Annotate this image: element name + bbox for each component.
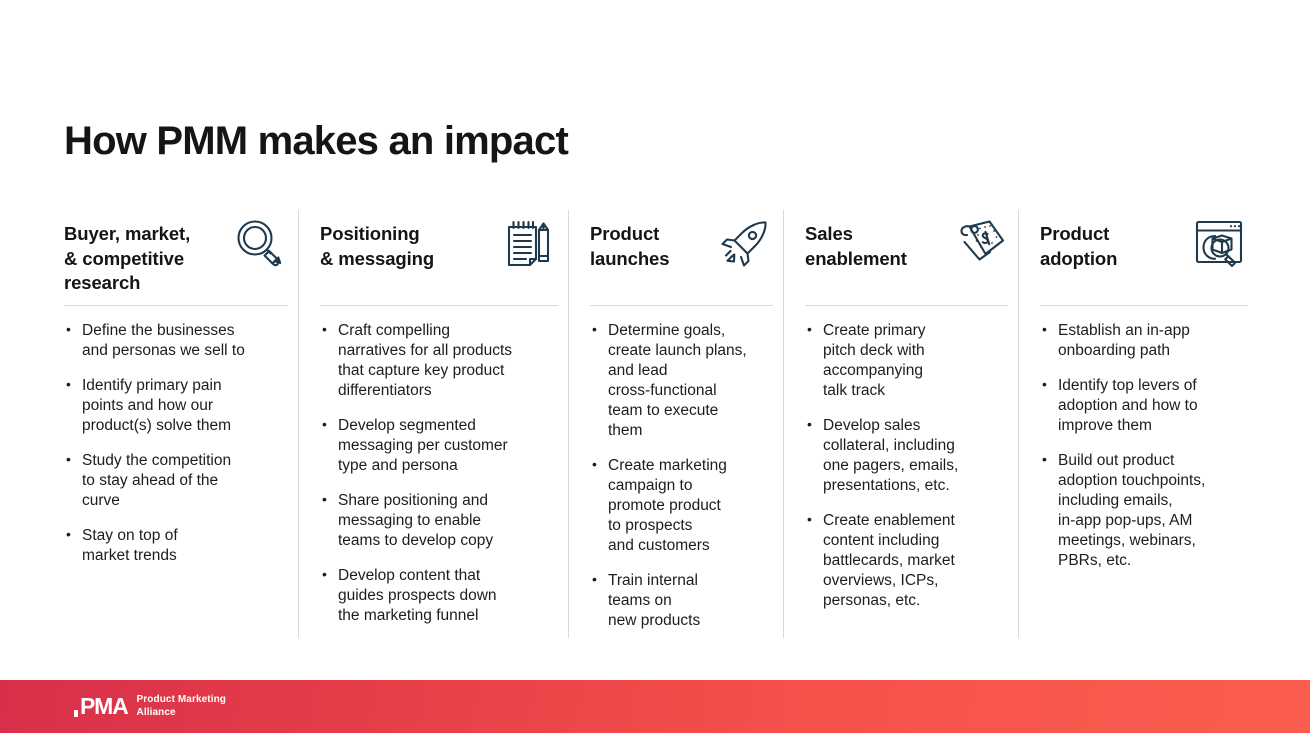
- magnifying-glass-icon: [232, 218, 288, 270]
- pma-logo: PMA Product Marketing Alliance: [74, 694, 226, 720]
- column-header: Product adoption: [1040, 210, 1248, 305]
- pmm-impact-matrix: Buyer, market, & competitive research: [64, 210, 1258, 638]
- list-item: Develop sales collateral, including one …: [805, 416, 1008, 496]
- price-tags-icon: [952, 218, 1008, 270]
- list-item: Identify primary pain points and how our…: [64, 376, 288, 436]
- footer-bar: PMA Product Marketing Alliance: [0, 680, 1310, 733]
- page-title: How PMM makes an impact: [64, 118, 568, 164]
- column-title: Positioning & messaging: [320, 210, 434, 271]
- notepad-pencil-icon: [502, 218, 558, 270]
- slide-canvas: How PMM makes an impact Buyer, market, &…: [0, 0, 1310, 733]
- column-title: Product launches: [590, 210, 669, 271]
- list-item: Identify top levers of adoption and how …: [1040, 376, 1248, 436]
- list-item: Develop content that guides prospects do…: [320, 566, 558, 626]
- rocket-icon: [717, 218, 773, 270]
- column-bullet-list: Create primary pitch deck with accompany…: [805, 306, 1008, 611]
- list-item: Determine goals, create launch plans, an…: [590, 321, 773, 441]
- column-header: Positioning & messaging: [320, 210, 558, 305]
- list-item: Create enablement content including batt…: [805, 511, 1008, 611]
- column-title: Buyer, market, & competitive research: [64, 210, 190, 296]
- pma-logo-mark: PMA: [74, 695, 128, 718]
- list-item: Define the businesses and personas we se…: [64, 321, 288, 361]
- column-title: Sales enablement: [805, 210, 907, 271]
- column-header: Sales enablement: [805, 210, 1008, 305]
- matrix-column-sales-enablement: Sales enablement: [783, 210, 1018, 638]
- list-item: Craft compelling narratives for all prod…: [320, 321, 558, 401]
- matrix-column-product-adoption: Product adoption: [1018, 210, 1258, 638]
- column-bullet-list: Establish an in-app onboarding path Iden…: [1040, 306, 1248, 571]
- column-header: Buyer, market, & competitive research: [64, 210, 288, 305]
- browser-product-search-icon: [1192, 218, 1248, 270]
- list-item: Create primary pitch deck with accompany…: [805, 321, 1008, 401]
- list-item: Share positioning and messaging to enabl…: [320, 491, 558, 551]
- matrix-column-positioning-messaging: Positioning & messaging: [298, 210, 568, 638]
- matrix-columns: Buyer, market, & competitive research: [64, 210, 1258, 638]
- column-bullet-list: Determine goals, create launch plans, an…: [590, 306, 773, 631]
- column-header: Product launches: [590, 210, 773, 305]
- list-item: Build out product adoption touchpoints, …: [1040, 451, 1248, 571]
- column-bullet-list: Craft compelling narratives for all prod…: [320, 306, 558, 626]
- column-title: Product adoption: [1040, 210, 1117, 271]
- pma-logo-wordmark: Product Marketing Alliance: [137, 694, 227, 720]
- list-item: Study the competition to stay ahead of t…: [64, 451, 288, 511]
- column-bullet-list: Define the businesses and personas we se…: [64, 306, 288, 566]
- list-item: Create marketing campaign to promote pro…: [590, 456, 773, 556]
- matrix-column-product-launches: Product launches Determin: [568, 210, 783, 638]
- list-item: Develop segmented messaging per customer…: [320, 416, 558, 476]
- matrix-column-buyer-market-research: Buyer, market, & competitive research: [64, 210, 298, 638]
- list-item: Train internal teams on new products: [590, 571, 773, 631]
- list-item: Stay on top of market trends: [64, 526, 288, 566]
- list-item: Establish an in-app onboarding path: [1040, 321, 1248, 361]
